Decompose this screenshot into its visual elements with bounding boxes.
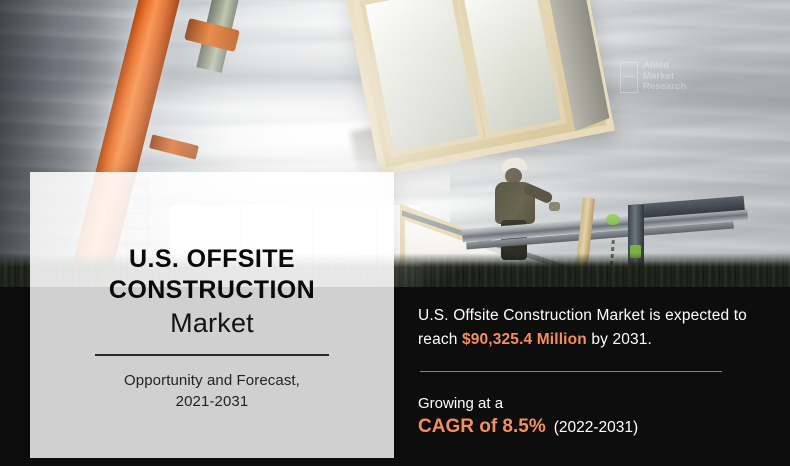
cagr-line: CAGR of 8.5%(2022-2031) — [418, 414, 770, 441]
stats-divider — [420, 371, 722, 372]
subtitle-line-2: 2021-2031 — [176, 391, 249, 412]
logo-mark-icon — [620, 62, 638, 93]
title-card-content: U.S. OFFSITE CONSTRUCTION Market Opportu… — [30, 172, 394, 458]
headline-market-value: $90,325.4 Million — [462, 331, 587, 348]
title-card: U.S. OFFSITE CONSTRUCTION Market Opportu… — [30, 172, 394, 458]
stats-block: U.S. Offsite Construction Market is expe… — [418, 304, 770, 441]
page-title-line-3: Market — [170, 306, 254, 340]
title-divider — [95, 354, 329, 356]
worker-glove — [549, 202, 560, 211]
headline-statement: U.S. Offsite Construction Market is expe… — [418, 304, 770, 352]
watermark-line-3: Research — [643, 82, 687, 93]
page-title-line-2: CONSTRUCTION — [109, 275, 315, 306]
watermark-text: Allied Market Research — [643, 61, 687, 93]
green-sticker — [606, 214, 620, 225]
cagr-value: CAGR of 8.5% — [418, 416, 546, 437]
subtitle-line-1: Opportunity and Forecast, — [124, 370, 300, 391]
market-infographic: Allied Market Research U.S. OFFSITE CONS… — [0, 0, 790, 466]
allied-market-research-watermark: Allied Market Research — [620, 58, 706, 96]
growth-label: Growing at a — [418, 393, 770, 414]
cagr-period: (2022-2031) — [554, 419, 638, 436]
page-title-line-1: U.S. OFFSITE — [129, 244, 295, 275]
headline-suffix: by 2031. — [587, 331, 652, 348]
